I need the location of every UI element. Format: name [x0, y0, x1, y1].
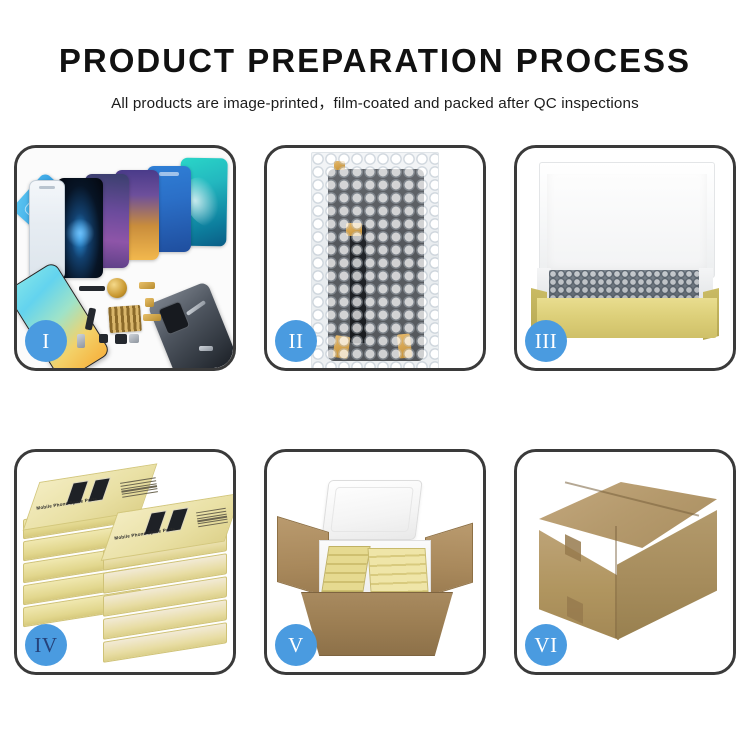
- step-panel-4: Mobile Phone Spare Parts Mobile Phone Sp…: [14, 449, 236, 675]
- part-flex-gold-icon: [139, 282, 155, 289]
- step-panel-5: V: [264, 449, 486, 675]
- step-badge-5: V: [275, 624, 317, 666]
- part-camera-icon: [115, 334, 127, 344]
- step-5-illustration: V: [267, 452, 483, 672]
- header: PRODUCT PREPARATION PROCESS All products…: [0, 0, 750, 113]
- part-sim-tray-icon: [77, 334, 85, 348]
- chip-grid-icon: [108, 305, 142, 333]
- step-3-illustration: III: [517, 148, 733, 368]
- step-panel-2: II: [264, 145, 486, 371]
- carton-vertical-edge-icon: [615, 526, 617, 638]
- step-4-illustration: Mobile Phone Spare Parts Mobile Phone Sp…: [17, 452, 233, 672]
- bubble-wrap-bag-icon: [311, 152, 439, 368]
- product-preparation-process-page: PRODUCT PREPARATION PROCESS All products…: [0, 0, 750, 750]
- step-badge-3: III: [525, 320, 567, 362]
- yellow-boxes-right-icon: [367, 548, 428, 592]
- page-subtitle: All products are image-printed，film-coat…: [0, 91, 750, 113]
- part-connector-icon: [145, 298, 154, 307]
- step-badge-2: II: [275, 320, 317, 362]
- process-steps-grid: I II: [14, 145, 736, 675]
- step-badge-1: I: [25, 320, 67, 362]
- tape-piece-icon: [346, 223, 362, 236]
- part-button-icon: [99, 334, 108, 343]
- vibrator-motor-icon: [107, 278, 127, 298]
- tape-piece-icon: [333, 335, 351, 359]
- carton-front-icon: [301, 592, 453, 656]
- foam-box-lid-icon: [321, 480, 422, 540]
- step-panel-3: III: [514, 145, 736, 371]
- foam-sheet-icon: [547, 174, 707, 276]
- step-badge-4: IV: [25, 624, 67, 666]
- tape-piece-icon: [334, 161, 345, 170]
- step-1-illustration: I: [17, 148, 233, 368]
- screwdriver-icon: [199, 346, 213, 351]
- part-flex-strip-icon: [143, 314, 161, 321]
- step-6-illustration: VI: [517, 452, 733, 672]
- page-title: PRODUCT PREPARATION PROCESS: [0, 42, 750, 80]
- step-panel-6: VI: [514, 449, 736, 675]
- step-2-illustration: II: [267, 148, 483, 368]
- lcd-screen-icon: [328, 169, 424, 361]
- flex-cable-icon: [350, 225, 366, 343]
- step-panel-1: I: [14, 145, 236, 371]
- yellow-boxes-left-icon: [321, 546, 370, 592]
- part-speaker-icon: [79, 286, 105, 291]
- part-shield-icon: [129, 334, 139, 343]
- step-badge-6: VI: [525, 624, 567, 666]
- tape-piece-icon: [397, 333, 412, 358]
